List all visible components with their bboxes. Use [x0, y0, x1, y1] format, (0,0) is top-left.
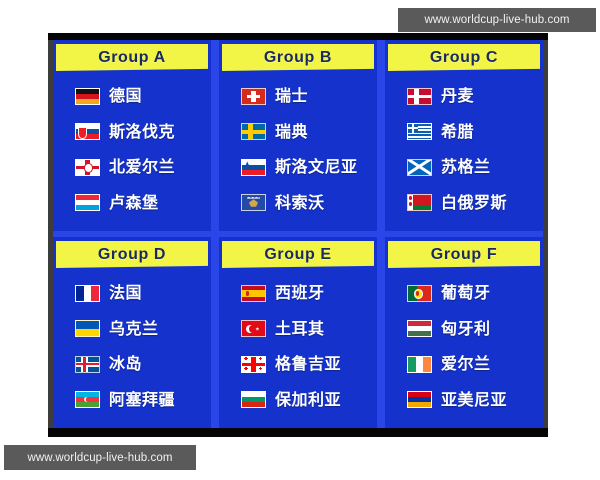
- group-title: Group D: [98, 246, 166, 264]
- group-title: Group E: [264, 246, 331, 264]
- team-row[interactable]: 德国: [53, 83, 211, 109]
- board-right-edge: [543, 40, 548, 428]
- flag-switzerland-icon: [241, 88, 266, 105]
- group-header: Group B: [222, 44, 374, 71]
- team-name: 斯洛文尼亚: [275, 159, 358, 175]
- team-name: 北爱尔兰: [109, 159, 175, 175]
- group-card[interactable]: Group B瑞士瑞典斯洛文尼亚科索沃: [219, 40, 377, 231]
- team-name: 德国: [109, 88, 142, 104]
- group-title: Group B: [264, 49, 332, 67]
- team-row[interactable]: 北爱尔兰: [53, 154, 211, 180]
- team-row[interactable]: 阿塞拜疆: [53, 387, 211, 413]
- team-list: 德国斯洛伐克北爱尔兰卢森堡: [53, 71, 211, 231]
- team-row[interactable]: 乌克兰: [53, 316, 211, 342]
- flag-scotland-icon: [407, 159, 432, 176]
- flag-portugal-icon: [407, 285, 432, 302]
- group-card[interactable]: Group D法国乌克兰冰岛阿塞拜疆: [53, 237, 211, 428]
- board-bottom-bar: [48, 428, 548, 437]
- team-row[interactable]: 科索沃: [219, 190, 377, 216]
- team-row[interactable]: 瑞典: [219, 119, 377, 145]
- team-name: 匈牙利: [441, 321, 491, 337]
- team-row[interactable]: 格鲁吉亚: [219, 351, 377, 377]
- groups-grid: Group A德国斯洛伐克北爱尔兰卢森堡Group B瑞士瑞典斯洛文尼亚科索沃G…: [53, 40, 543, 428]
- group-header: Group E: [222, 241, 374, 268]
- flag-georgia-icon: [241, 356, 266, 373]
- team-name: 格鲁吉亚: [275, 356, 341, 372]
- team-row[interactable]: 冰岛: [53, 351, 211, 377]
- flag-slovakia-icon: [75, 123, 100, 140]
- team-name: 阿塞拜疆: [109, 392, 175, 408]
- team-row[interactable]: 亚美尼亚: [385, 387, 543, 413]
- flag-azerbaijan-icon: [75, 391, 100, 408]
- group-card[interactable]: Group C丹麦希腊苏格兰白俄罗斯: [385, 40, 543, 231]
- flag-sweden-icon: [241, 123, 266, 140]
- group-card[interactable]: Group A德国斯洛伐克北爱尔兰卢森堡: [53, 40, 211, 231]
- board-top-bar: [48, 33, 548, 40]
- flag-turkey-icon: [241, 320, 266, 337]
- flag-denmark-icon: [407, 88, 432, 105]
- team-row[interactable]: 瑞士: [219, 83, 377, 109]
- team-name: 丹麦: [441, 88, 474, 104]
- watermark-bottom-left: www.worldcup-live-hub.com: [4, 445, 196, 470]
- team-name: 法国: [109, 285, 142, 301]
- team-list: 葡萄牙匈牙利爱尔兰亚美尼亚: [385, 268, 543, 428]
- team-name: 苏格兰: [441, 159, 491, 175]
- team-row[interactable]: 法国: [53, 280, 211, 306]
- team-name: 保加利亚: [275, 392, 341, 408]
- team-name: 瑞典: [275, 124, 308, 140]
- flag-ukraine-icon: [75, 320, 100, 337]
- team-list: 法国乌克兰冰岛阿塞拜疆: [53, 268, 211, 428]
- team-name: 卢森堡: [109, 195, 159, 211]
- team-name: 斯洛伐克: [109, 124, 175, 140]
- flag-belarus-icon: [407, 194, 432, 211]
- team-name: 冰岛: [109, 356, 142, 372]
- flag-slovenia-icon: [241, 159, 266, 176]
- team-name: 瑞士: [275, 88, 308, 104]
- flag-iceland-icon: [75, 356, 100, 373]
- group-title: Group F: [431, 246, 497, 264]
- team-name: 爱尔兰: [441, 356, 491, 372]
- team-row[interactable]: 保加利亚: [219, 387, 377, 413]
- group-header: Group D: [56, 241, 208, 268]
- team-name: 葡萄牙: [441, 285, 491, 301]
- team-row[interactable]: 匈牙利: [385, 316, 543, 342]
- team-row[interactable]: 卢森堡: [53, 190, 211, 216]
- team-row[interactable]: 希腊: [385, 119, 543, 145]
- flag-bulgaria-icon: [241, 391, 266, 408]
- watermark-top-right: www.worldcup-live-hub.com: [398, 8, 596, 32]
- flag-spain-icon: [241, 285, 266, 302]
- flag-greece-icon: [407, 123, 432, 140]
- team-row[interactable]: 丹麦: [385, 83, 543, 109]
- flag-france-icon: [75, 285, 100, 302]
- team-row[interactable]: 苏格兰: [385, 154, 543, 180]
- group-header: Group A: [56, 44, 208, 71]
- group-card[interactable]: Group E西班牙土耳其格鲁吉亚保加利亚: [219, 237, 377, 428]
- team-list: 西班牙土耳其格鲁吉亚保加利亚: [219, 268, 377, 428]
- team-list: 丹麦希腊苏格兰白俄罗斯: [385, 71, 543, 231]
- flag-armenia-icon: [407, 391, 432, 408]
- group-header: Group F: [388, 241, 540, 268]
- group-card[interactable]: Group F葡萄牙匈牙利爱尔兰亚美尼亚: [385, 237, 543, 428]
- team-row[interactable]: 斯洛伐克: [53, 119, 211, 145]
- flag-northern-ireland-icon: [75, 159, 100, 176]
- flag-hungary-icon: [407, 320, 432, 337]
- group-title: Group C: [430, 49, 498, 67]
- group-title: Group A: [98, 49, 166, 67]
- team-name: 西班牙: [275, 285, 325, 301]
- team-row[interactable]: 斯洛文尼亚: [219, 154, 377, 180]
- team-name: 乌克兰: [109, 321, 159, 337]
- groups-board: Group A德国斯洛伐克北爱尔兰卢森堡Group B瑞士瑞典斯洛文尼亚科索沃G…: [48, 33, 548, 437]
- flag-ireland-icon: [407, 356, 432, 373]
- flag-luxembourg-icon: [75, 194, 100, 211]
- team-row[interactable]: 土耳其: [219, 316, 377, 342]
- team-name: 土耳其: [275, 321, 325, 337]
- team-row[interactable]: 爱尔兰: [385, 351, 543, 377]
- team-row[interactable]: 白俄罗斯: [385, 190, 543, 216]
- team-row[interactable]: 葡萄牙: [385, 280, 543, 306]
- team-row[interactable]: 西班牙: [219, 280, 377, 306]
- flag-kosovo-icon: [241, 194, 266, 211]
- team-name: 科索沃: [275, 195, 325, 211]
- team-list: 瑞士瑞典斯洛文尼亚科索沃: [219, 71, 377, 231]
- team-name: 希腊: [441, 124, 474, 140]
- group-header: Group C: [388, 44, 540, 71]
- team-name: 白俄罗斯: [441, 195, 507, 211]
- flag-germany-icon: [75, 88, 100, 105]
- team-name: 亚美尼亚: [441, 392, 507, 408]
